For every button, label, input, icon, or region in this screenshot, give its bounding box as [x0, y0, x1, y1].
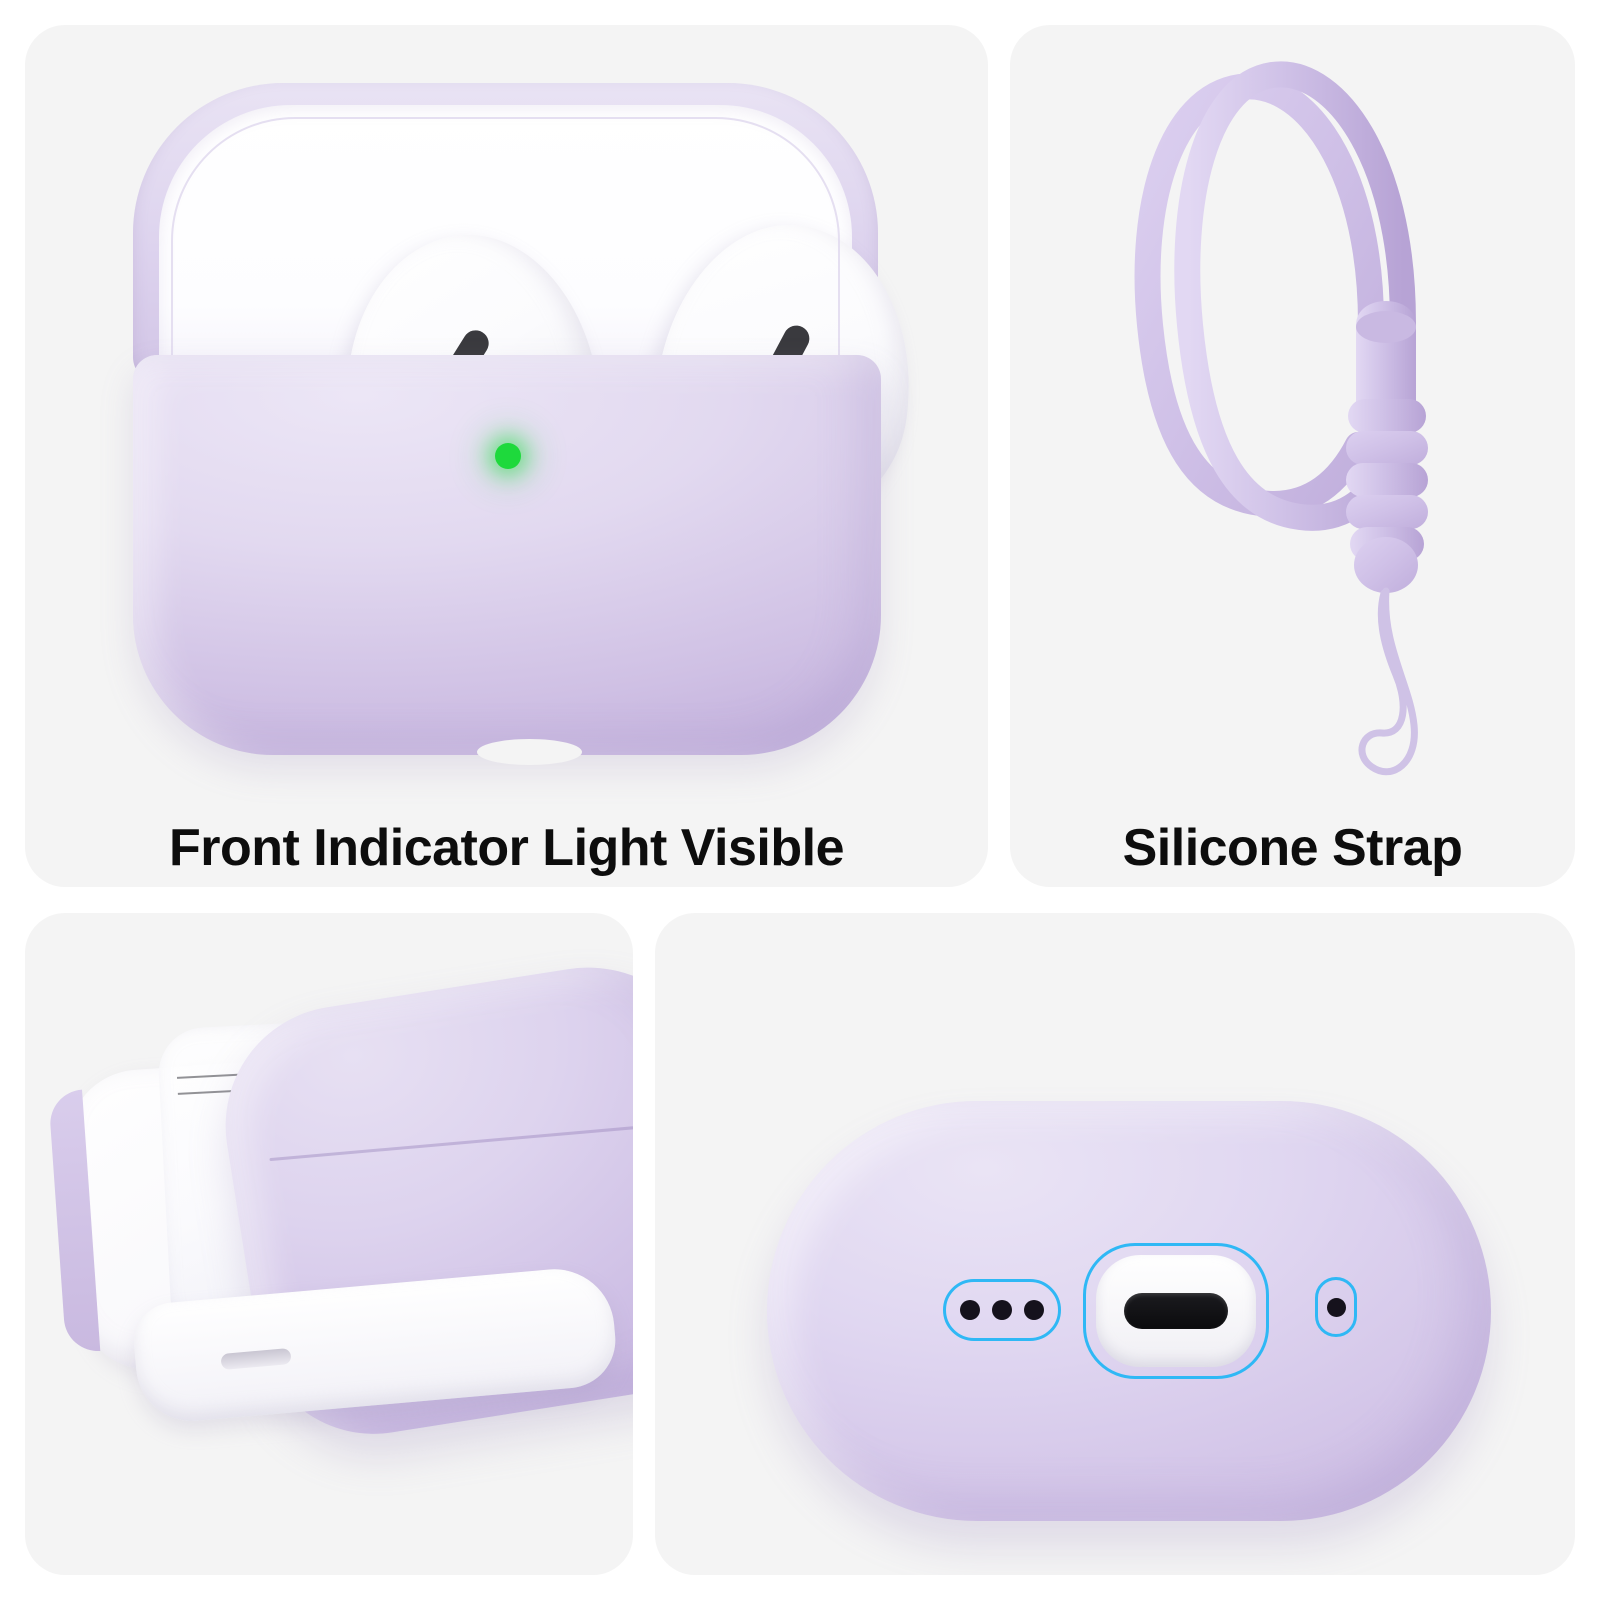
usb-c-port-slot [1124, 1293, 1228, 1329]
strap-grip-rings [1346, 399, 1428, 561]
two-layer-illustration [25, 913, 633, 1575]
strap-drawing [1010, 25, 1575, 887]
strap-lanyard-loop [1362, 591, 1414, 772]
silicone-strap-illustration [1010, 25, 1575, 887]
front-indicator-illustration [25, 25, 988, 887]
usb-c-port-cutout-icon [1083, 1243, 1269, 1379]
speaker-grille-cutout-icon [943, 1279, 1061, 1341]
panel-two-layer-structure: 2-Layer Structure [25, 913, 633, 1575]
grille-dot [1024, 1300, 1044, 1320]
panel-caption: Front Indicator Light Visible [25, 818, 988, 878]
microphone-cutout-icon [1315, 1277, 1357, 1337]
indicator-light-icon [495, 443, 521, 469]
case-lid [133, 83, 878, 383]
grille-dot [992, 1300, 1012, 1320]
panel-precise-cutouts: Precise Cutouts [655, 913, 1575, 1575]
grille-dot [960, 1300, 980, 1320]
panel-silicone-strap: Silicone Strap [1010, 25, 1575, 887]
case-body-silicone-cover [133, 355, 881, 755]
microphone-hole [1327, 1298, 1346, 1317]
case-lid-interior [159, 105, 852, 391]
strap-collar-slot [1356, 311, 1416, 343]
panel-caption: Silicone Strap [1010, 818, 1575, 878]
panel-front-indicator: Front Indicator Light Visible [25, 25, 988, 887]
usb-c-port-bezel [1096, 1255, 1256, 1367]
precise-cutouts-illustration [655, 913, 1575, 1575]
case-bottom-face [767, 1101, 1491, 1521]
strap-grip-cap [1354, 537, 1418, 593]
feature-grid: Front Indicator Light Visible [0, 0, 1601, 1601]
